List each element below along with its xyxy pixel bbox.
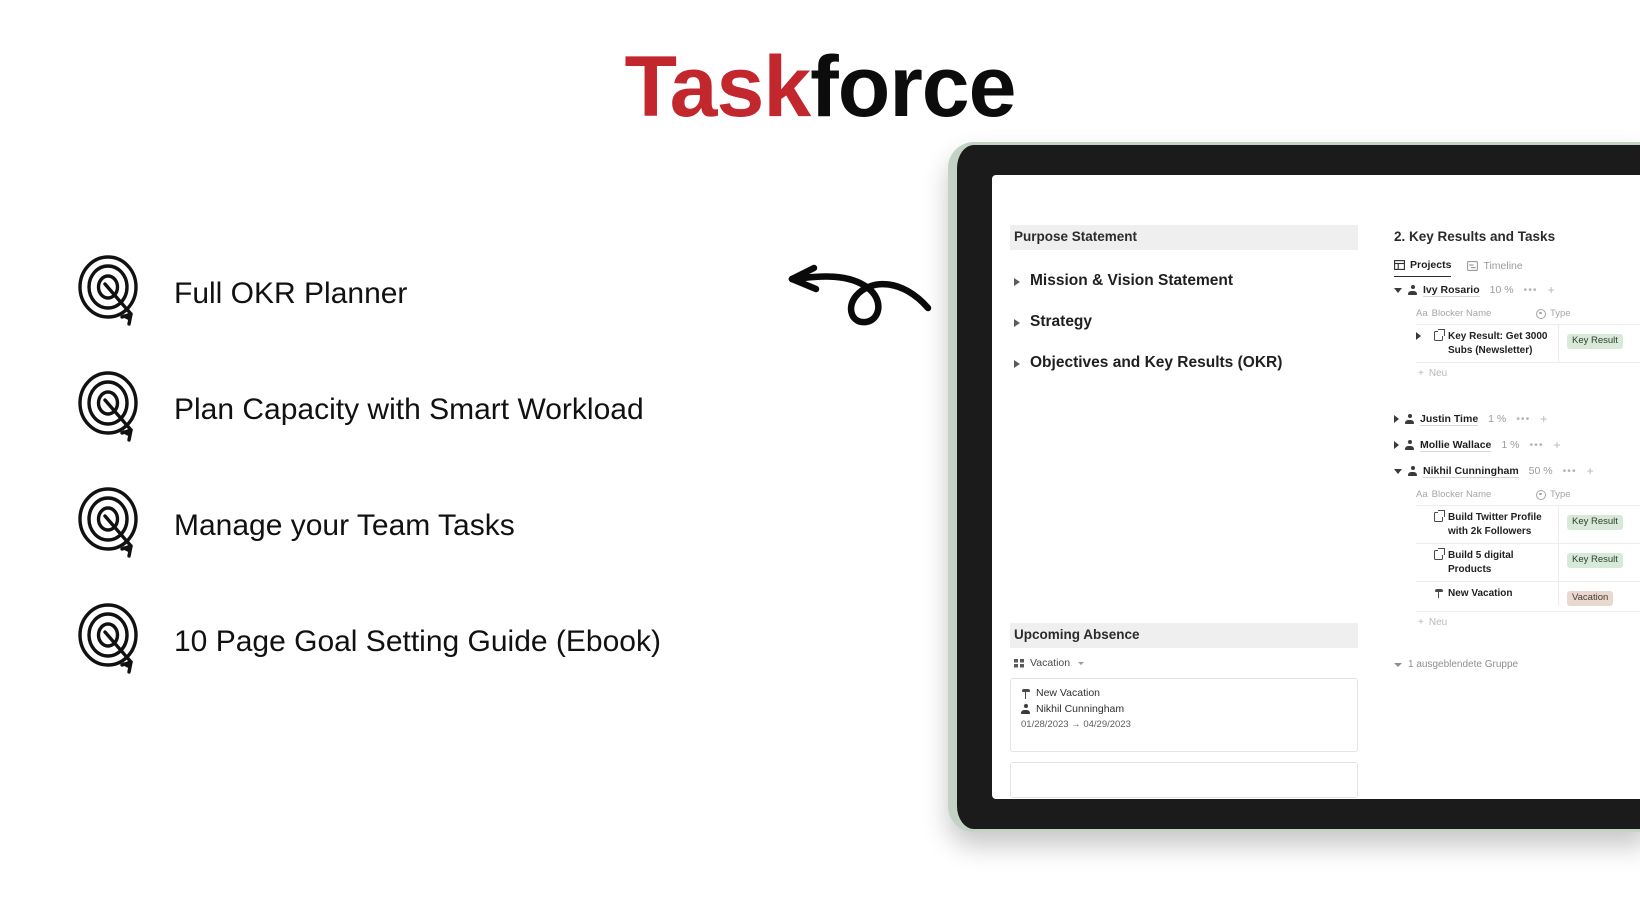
table-icon: [1394, 260, 1405, 270]
group-header-nikhil-cunningham[interactable]: Nikhil Cunningham 50 % ••• +: [1392, 458, 1640, 484]
more-options-icon[interactable]: •••: [1563, 465, 1577, 477]
column-headers: Aa Blocker Name Type: [1416, 303, 1640, 324]
absence-card-title: New Vacation: [1036, 687, 1100, 699]
table-row[interactable]: Key Result: Get 3000 Subs (Newsletter) K…: [1416, 324, 1640, 362]
doc-icon: [1434, 512, 1443, 522]
chevron-right-icon[interactable]: [1416, 332, 1421, 340]
chevron-right-icon: [1014, 360, 1020, 368]
group-header-ivy-rosario[interactable]: Ivy Rosario 10 % ••• +: [1392, 277, 1640, 303]
group-percent: 1 %: [1488, 413, 1506, 425]
doc-icon: [1434, 331, 1443, 341]
group-person-name: Nikhil Cunningham: [1423, 465, 1519, 478]
doc-icon: [1434, 550, 1443, 560]
absence-view-selector[interactable]: Vacation: [1014, 657, 1358, 669]
curly-left-arrow-icon: [776, 246, 956, 356]
feature-label: Plan Capacity with Smart Workload: [174, 393, 644, 428]
group-header-justin-time[interactable]: Justin Time 1 % ••• +: [1392, 406, 1640, 432]
toggle-label: Strategy: [1030, 312, 1092, 332]
toggle-label: Mission & Vision Statement: [1030, 271, 1233, 291]
spacer: [1392, 384, 1640, 406]
add-new-row-ivy[interactable]: + Neu: [1416, 362, 1640, 384]
notion-page: Purpose Statement Mission & Vision State…: [992, 175, 1640, 799]
row-name-cell: Build 5 digital Products: [1416, 544, 1559, 581]
group-person-name: Mollie Wallace: [1420, 439, 1491, 452]
tab-projects[interactable]: Projects: [1394, 259, 1451, 277]
row-type-cell: Key Result: [1559, 506, 1640, 535]
chevron-right-icon: [1014, 278, 1020, 286]
row-name: New Vacation: [1448, 587, 1512, 601]
column-headers: Aa Blocker Name Type: [1416, 484, 1640, 505]
more-options-icon[interactable]: •••: [1529, 439, 1543, 451]
chevron-down-icon: [1078, 662, 1084, 665]
chevron-down-icon: [1394, 663, 1402, 667]
group-person-name: Justin Time: [1420, 413, 1478, 426]
list-item: Manage your Team Tasks: [74, 468, 834, 584]
add-row-icon[interactable]: +: [1540, 412, 1547, 426]
toggle-okr[interactable]: Objectives and Key Results (OKR): [1010, 353, 1358, 373]
target-arrow-icon: [74, 254, 150, 334]
right-column: 2. Key Results and Tasks Projects: [1392, 225, 1640, 799]
tab-timeline[interactable]: Timeline: [1467, 260, 1522, 277]
hidden-group-toggle[interactable]: 1 ausgeblendete Gruppe: [1394, 659, 1640, 670]
target-arrow-icon: [74, 486, 150, 566]
chevron-right-icon: [1014, 319, 1020, 327]
hidden-group-label: 1 ausgeblendete Gruppe: [1408, 659, 1518, 670]
toggle-mission-vision[interactable]: Mission & Vision Statement: [1010, 271, 1358, 291]
page-title: Taskforce: [0, 44, 1640, 130]
status-badge: Key Result: [1567, 553, 1623, 568]
absence-card-dates: 01/28/2023 → 04/29/2023: [1021, 719, 1347, 730]
row-name-cell: Build Twitter Profile with 2k Followers: [1416, 506, 1559, 543]
tab-label: Timeline: [1483, 260, 1522, 272]
new-row-label: Neu: [1429, 368, 1447, 379]
upcoming-absence-heading: Upcoming Absence: [1010, 623, 1358, 648]
add-row-icon[interactable]: +: [1587, 464, 1594, 478]
plus-icon: +: [1418, 368, 1424, 379]
person-icon: [1021, 704, 1030, 714]
toggle-label: Objectives and Key Results (OKR): [1030, 353, 1282, 373]
select-icon: [1536, 490, 1546, 500]
row-name: Build 5 digital Products: [1448, 549, 1554, 576]
status-badge: Key Result: [1567, 515, 1623, 530]
status-badge: Vacation: [1567, 591, 1613, 606]
add-row-icon[interactable]: +: [1554, 438, 1561, 452]
more-options-icon[interactable]: •••: [1524, 284, 1538, 296]
group-percent: 1 %: [1501, 439, 1519, 451]
group-header-mollie-wallace[interactable]: Mollie Wallace 1 % ••• +: [1392, 432, 1640, 458]
row-type-cell: Vacation: [1559, 582, 1640, 611]
absence-card-title-row: New Vacation: [1021, 687, 1347, 699]
brand-name-accent: Task: [625, 39, 811, 135]
person-icon: [1408, 285, 1417, 295]
timeline-icon: [1467, 261, 1478, 271]
toggle-strategy[interactable]: Strategy: [1010, 312, 1358, 332]
row-type-cell: Key Result: [1559, 544, 1640, 573]
left-column: Purpose Statement Mission & Vision State…: [1010, 225, 1358, 799]
tablet-device: Purpose Statement Mission & Vision State…: [948, 142, 1640, 832]
column-header-type: Type: [1550, 489, 1571, 500]
column-header-type: Type: [1550, 308, 1571, 319]
upcoming-absence-section: Upcoming Absence Vacation New Vacation: [1010, 623, 1358, 798]
row-name: Key Result: Get 3000 Subs (Newsletter): [1448, 330, 1554, 357]
feature-label: 10 Page Goal Setting Guide (Ebook): [174, 625, 661, 660]
row-type-cell: Key Result: [1559, 325, 1640, 354]
column-name-prefix: Aa: [1416, 308, 1428, 319]
plant-icon: [1021, 689, 1030, 699]
table-row[interactable]: Build 5 digital Products Key Result: [1416, 543, 1640, 581]
chevron-down-icon: [1394, 469, 1402, 474]
feature-list: Full OKR Planner Plan Capacity with Smar…: [74, 236, 834, 700]
list-item: Full OKR Planner: [74, 236, 834, 352]
status-badge: Key Result: [1567, 334, 1623, 349]
new-row-label: Neu: [1429, 617, 1447, 628]
tab-label: Projects: [1410, 259, 1451, 271]
key-results-heading: 2. Key Results and Tasks: [1392, 225, 1640, 250]
database-view-tabs: Projects Timeline: [1394, 259, 1640, 277]
target-arrow-icon: [74, 602, 150, 682]
tablet-screen: Purpose Statement Mission & Vision State…: [992, 175, 1640, 799]
add-row-icon[interactable]: +: [1548, 283, 1555, 297]
row-name-cell: New Vacation: [1416, 582, 1559, 606]
absence-card-next[interactable]: [1010, 762, 1358, 798]
more-options-icon[interactable]: •••: [1516, 413, 1530, 425]
absence-view-label: Vacation: [1030, 657, 1070, 669]
brand-name-rest: force: [810, 39, 1015, 135]
list-item: 10 Page Goal Setting Guide (Ebook): [74, 584, 834, 700]
chevron-right-icon: [1394, 415, 1399, 423]
table-row[interactable]: Build Twitter Profile with 2k Followers …: [1416, 505, 1640, 543]
plant-icon: [1434, 588, 1443, 598]
chevron-down-icon: [1394, 288, 1402, 293]
target-arrow-icon: [74, 370, 150, 450]
select-icon: [1536, 309, 1546, 319]
column-name-prefix: Aa: [1416, 489, 1428, 500]
column-header-name: Blocker Name: [1432, 489, 1492, 500]
row-name: Build Twitter Profile with 2k Followers: [1448, 511, 1554, 538]
plus-icon: +: [1418, 617, 1424, 628]
column-header-name: Blocker Name: [1432, 308, 1492, 319]
chevron-right-icon: [1394, 441, 1399, 449]
person-icon: [1405, 414, 1414, 424]
feature-label: Manage your Team Tasks: [174, 509, 515, 544]
gallery-view-icon: [1014, 659, 1024, 668]
group-percent: 50 %: [1529, 465, 1553, 477]
purpose-statement-heading: Purpose Statement: [1010, 225, 1358, 250]
list-item: Plan Capacity with Smart Workload: [74, 352, 834, 468]
absence-card-person: Nikhil Cunningham: [1036, 703, 1124, 715]
person-icon: [1408, 466, 1417, 476]
feature-label: Full OKR Planner: [174, 277, 407, 312]
row-name-cell: Key Result: Get 3000 Subs (Newsletter): [1416, 325, 1559, 362]
add-new-row-nikhil[interactable]: + Neu: [1416, 611, 1640, 633]
table-row[interactable]: New Vacation Vacation: [1416, 581, 1640, 611]
person-icon: [1405, 440, 1414, 450]
group-percent: 10 %: [1490, 284, 1514, 296]
group-person-name: Ivy Rosario: [1423, 284, 1480, 297]
absence-card-person-row: Nikhil Cunningham: [1021, 703, 1347, 715]
absence-card[interactable]: New Vacation Nikhil Cunningham 01/28/202…: [1010, 678, 1358, 752]
